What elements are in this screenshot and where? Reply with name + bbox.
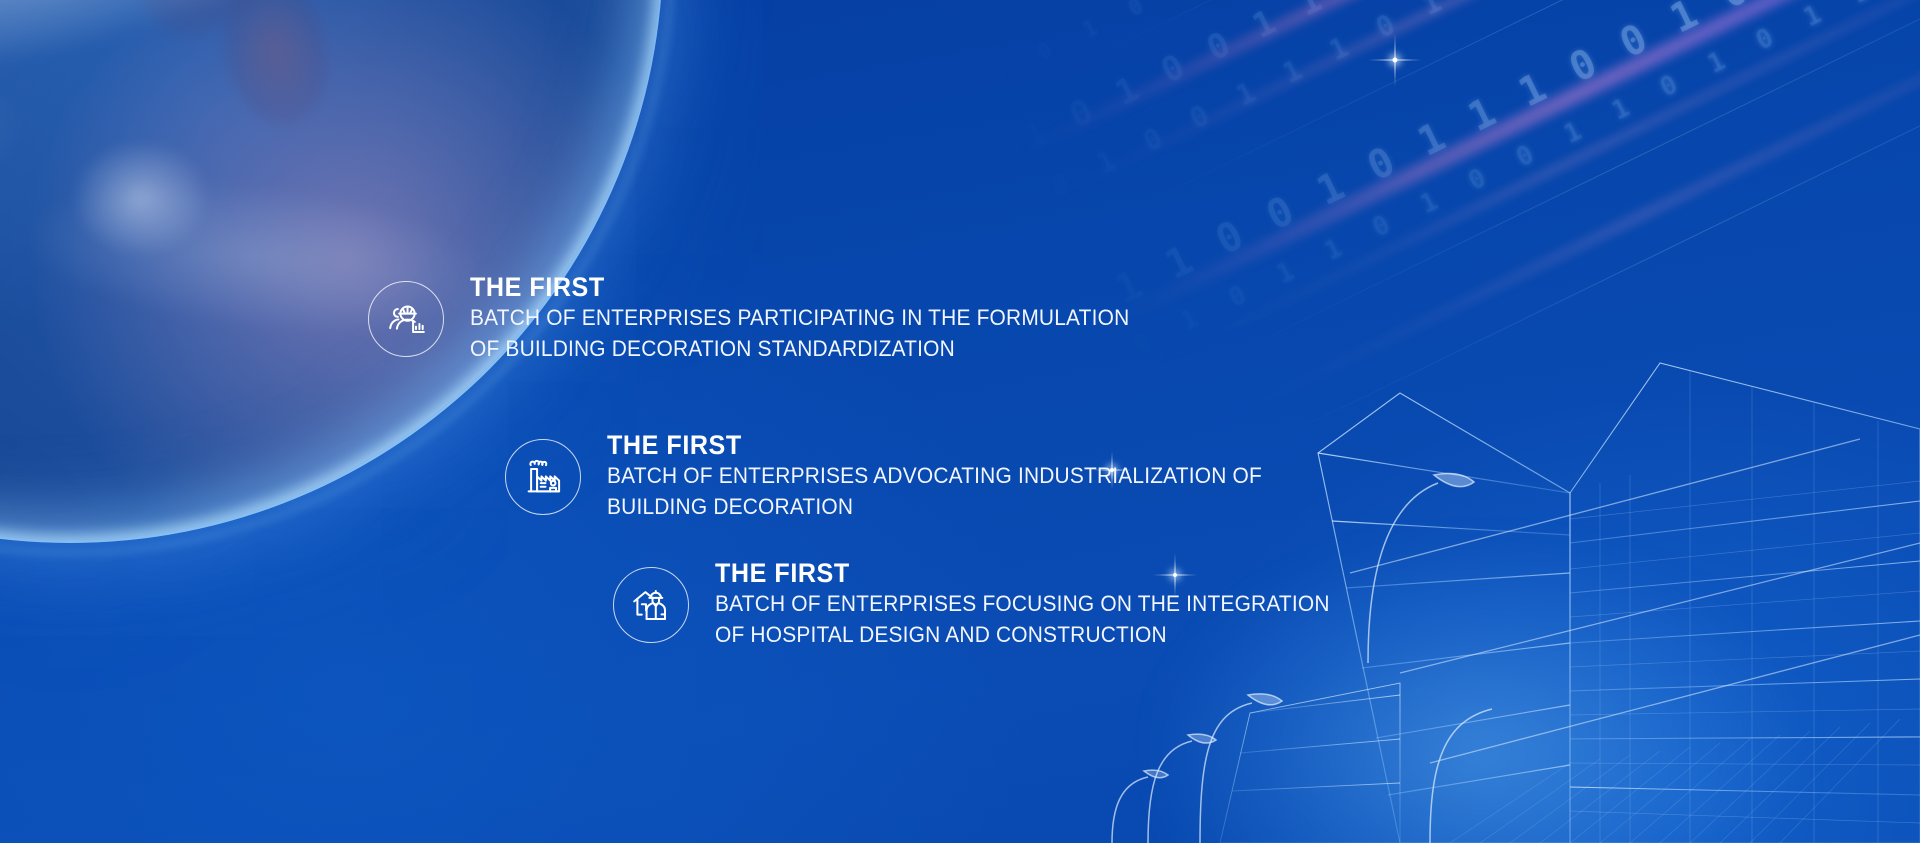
feature-text-1: THE FIRST BATCH OF ENTERPRISES PARTICIPA…: [470, 272, 1179, 366]
feature-line: OF HOSPITAL DESIGN AND CONSTRUCTION: [715, 619, 1330, 650]
feature-line: BATCH OF ENTERPRISES PARTICIPATING IN TH…: [470, 302, 1129, 333]
construction-worker-chart-icon: [368, 281, 444, 357]
feature-line: OF BUILDING DECORATION STANDARDIZATION: [470, 333, 1129, 364]
feature-text-3: THE FIRST BATCH OF ENTERPRISES FOCUSING …: [715, 558, 1376, 652]
feature-title: THE FIRST: [607, 430, 1262, 460]
feature-title: THE FIRST: [715, 558, 1330, 588]
feature-title: THE FIRST: [470, 272, 1129, 302]
factory-icon: [505, 439, 581, 515]
feature-text-2: THE FIRST BATCH OF ENTERPRISES ADVOCATIN…: [607, 430, 1311, 524]
feature-line: BUILDING DECORATION: [607, 491, 1262, 522]
feature-line: BATCH OF ENTERPRISES ADVOCATING INDUSTRI…: [607, 460, 1262, 491]
feature-list: THE FIRST BATCH OF ENTERPRISES PARTICIPA…: [0, 0, 1920, 843]
worker-house-icon: [613, 567, 689, 643]
feature-item-1: THE FIRST BATCH OF ENTERPRISES PARTICIPA…: [368, 272, 1179, 366]
feature-item-3: THE FIRST BATCH OF ENTERPRISES FOCUSING …: [613, 558, 1376, 652]
feature-line: BATCH OF ENTERPRISES FOCUSING ON THE INT…: [715, 588, 1330, 619]
banner-hero: 0 0 1 1 0 1 0 1 1 0 0 1 1 0 1 0 0 1 0 1 …: [0, 0, 1920, 843]
feature-item-2: THE FIRST BATCH OF ENTERPRISES ADVOCATIN…: [505, 430, 1311, 524]
